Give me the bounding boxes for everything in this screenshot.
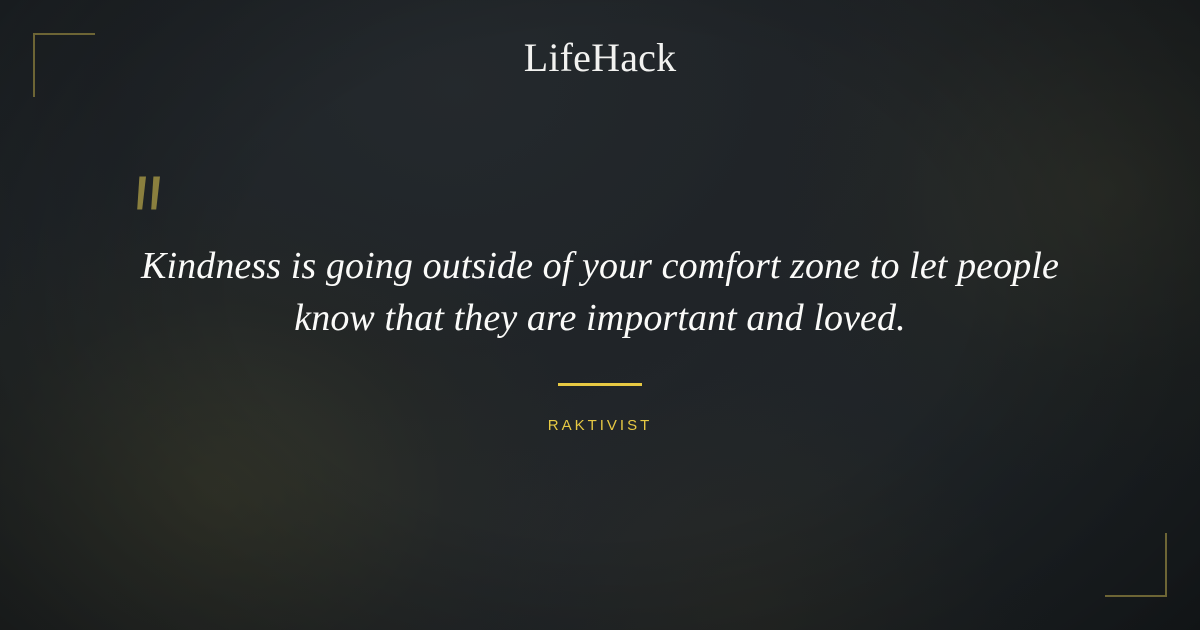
quote-author-text: RAKTIVIST xyxy=(548,417,653,434)
quote-line-2: know that they are important and loved. xyxy=(95,292,1105,344)
brand-logo-text: LifeHack xyxy=(524,35,677,80)
quote-card: LifeHack Kindness is going outside of yo… xyxy=(0,0,1200,630)
quote-text: Kindness is going outside of your comfor… xyxy=(95,240,1105,344)
quote-line-1: Kindness is going outside of your comfor… xyxy=(95,240,1105,292)
double-quote-icon xyxy=(133,176,173,218)
brand-logo: LifeHack xyxy=(0,38,1200,78)
divider xyxy=(558,383,642,386)
quote-author: RAKTIVIST xyxy=(0,417,1200,434)
